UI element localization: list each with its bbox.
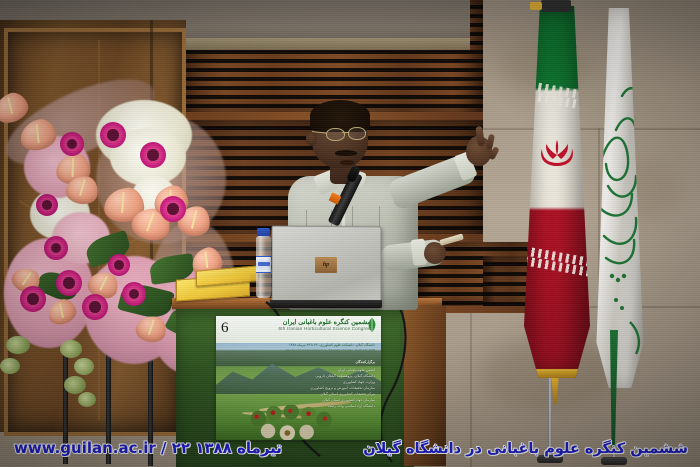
ivy-leaf	[0, 358, 20, 374]
bottle-label	[256, 256, 271, 273]
gerbera-flower	[160, 196, 186, 222]
gerbera-flower	[100, 122, 126, 148]
ivy-leaf	[78, 392, 96, 407]
gerbera-flower	[108, 254, 130, 276]
ceiling-mount	[541, 0, 571, 12]
banner-organizer-item: سازمان تحقیقات، آموزش و ترویج کشاورزی	[310, 386, 375, 390]
gerbera-flower	[140, 142, 166, 168]
speaker-mouth	[340, 160, 354, 165]
ceiling-mount-bracket	[530, 2, 542, 10]
congress-numeral-logo-icon: 6	[220, 317, 236, 335]
banner-organizer-item: وزارت جهاد کشاورزی	[343, 380, 375, 384]
hp-logo-icon: hp	[315, 257, 337, 273]
leaf-logo-icon	[365, 317, 379, 333]
banner-organizer-heading: برگزارکنندگان	[356, 360, 375, 364]
congress-banner: ششمین کنگره علوم باغبانی ایران 6th Irani…	[216, 316, 381, 440]
gerbera-flower	[122, 282, 146, 306]
ivy-leaf	[60, 340, 82, 358]
banner-organizer-item: دانشگاه گیلان، پژوهشکده گیاهان دارویی	[315, 374, 375, 378]
gerbera-flower	[60, 132, 84, 156]
eyeglasses-bridge	[342, 132, 349, 133]
banner-subtitle-fa: دانشگاه گیلان، دانشکده علوم کشاورزی، ۲۲ …	[289, 343, 375, 347]
eyeglasses-lens	[326, 128, 345, 141]
banner-organizer-item: انجمن علوم باغبانی ایران	[338, 368, 375, 372]
iran-emblem-icon	[537, 138, 577, 172]
ivy-leaf	[6, 336, 30, 354]
gerbera-flower	[20, 286, 46, 312]
gerbera-flower	[56, 270, 82, 296]
banner-produce-graphic	[242, 405, 344, 440]
ivy-leaf	[64, 376, 86, 394]
speaker-mustache	[335, 150, 357, 156]
flagpole-base	[537, 455, 563, 463]
svg-text:6: 6	[221, 320, 229, 335]
laptop-hinge	[270, 300, 382, 308]
wall-seam	[470, 128, 700, 130]
gerbera-flower	[82, 294, 108, 320]
banner-title-fa: ششمین کنگره علوم باغبانی ایران	[283, 318, 373, 326]
laptop-lid: hp	[272, 226, 382, 309]
gerbera-flower	[36, 194, 58, 216]
banner-organizer-item: مرکز تحقیقات کشاورزی استان گیلان	[320, 392, 375, 396]
banner-title-en: 6th Iranian Horticultural Science Congre…	[279, 326, 373, 331]
banner-organizer-item: سازمان جهاد کشاورزی استان گیلان	[322, 398, 375, 402]
eyeglasses-lens	[348, 127, 366, 140]
flagpole-base	[601, 457, 627, 465]
conference-photograph: ششمین کنگره علوم باغبانی ایران 6th Irani…	[0, 0, 700, 467]
gerbera-flower	[44, 236, 68, 260]
ivy-leaf	[74, 358, 94, 375]
banner-subtitle-en: Faculty of Agricultural Sciences, Univer…	[286, 348, 375, 352]
